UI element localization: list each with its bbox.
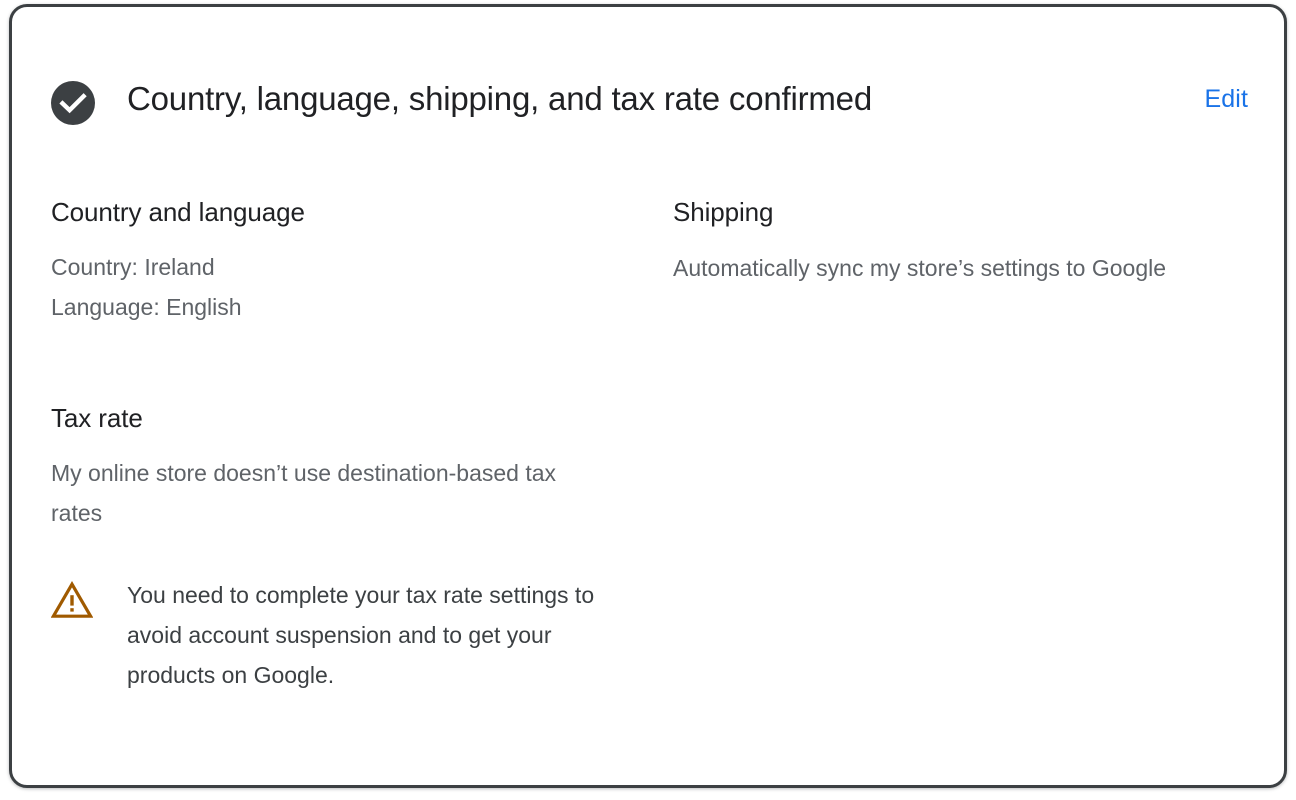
country-language-values: Country: Ireland Language: English — [51, 247, 591, 327]
card-header: Country, language, shipping, and tax rat… — [12, 7, 1284, 147]
check-circle-filled-icon — [51, 81, 95, 125]
left-column: Country and language Country: Ireland La… — [51, 195, 673, 695]
page-title: Country, language, shipping, and tax rat… — [127, 79, 1205, 119]
screen-root: Country, language, shipping, and tax rat… — [0, 0, 1296, 800]
language-value: Language: English — [51, 287, 591, 327]
warning-message: You need to complete your tax rate setti… — [127, 575, 617, 695]
tax-rate-warning: You need to complete your tax rate setti… — [51, 575, 673, 695]
warning-triangle-icon — [51, 581, 93, 619]
tax-rate-value: My online store doesn’t use destination-… — [51, 453, 591, 533]
section-shipping: Shipping Automatically sync my store’s s… — [673, 195, 1248, 288]
section-tax-rate: Tax rate My online store doesn’t use des… — [51, 401, 673, 695]
right-column: Shipping Automatically sync my store’s s… — [673, 195, 1248, 695]
section-title-tax-rate: Tax rate — [51, 401, 673, 435]
edit-link[interactable]: Edit — [1205, 83, 1248, 115]
section-country-and-language: Country and language Country: Ireland La… — [51, 195, 673, 327]
confirmation-card: Country, language, shipping, and tax rat… — [9, 4, 1287, 788]
shipping-value: Automatically sync my store’s settings t… — [673, 248, 1208, 288]
section-title-shipping: Shipping — [673, 195, 1248, 229]
country-value: Country: Ireland — [51, 247, 591, 287]
card-body: Country and language Country: Ireland La… — [51, 195, 1248, 695]
section-title-country-and-language: Country and language — [51, 195, 673, 229]
